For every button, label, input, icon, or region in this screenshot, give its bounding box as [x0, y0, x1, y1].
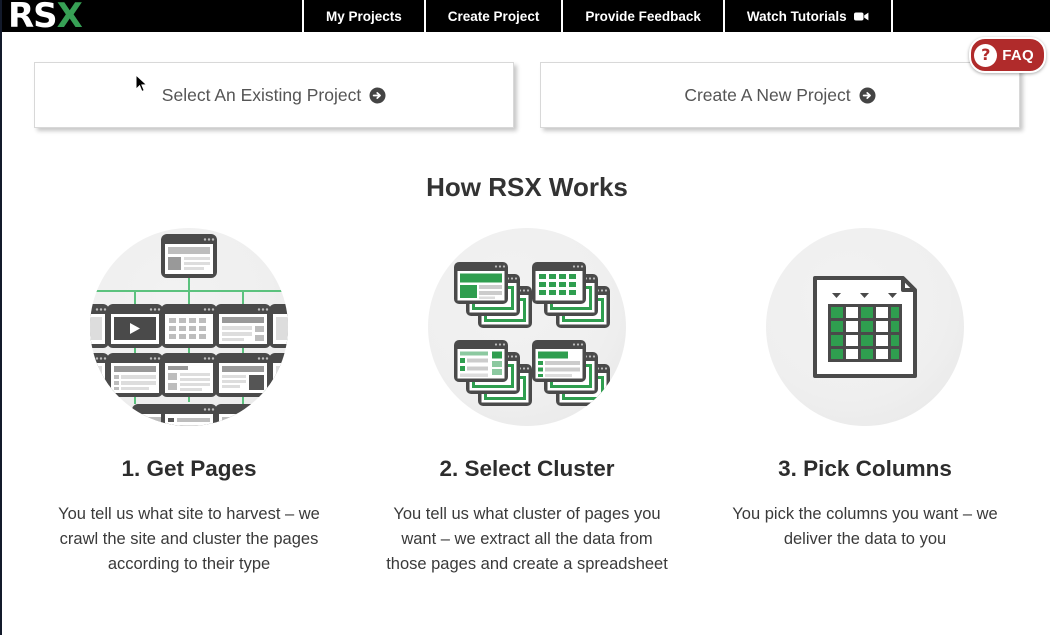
step-description: You tell us what cluster of pages you wa…: [382, 502, 672, 577]
create-new-project-button[interactable]: Create A New Project: [540, 62, 1020, 128]
step-title: 2. Select Cluster: [439, 456, 614, 482]
arrow-circle-right-icon: [369, 87, 386, 104]
page-root: RSX My Projects Create Project Provide F…: [0, 0, 1050, 635]
nav-item-create-project[interactable]: Create Project: [424, 0, 562, 32]
nav-item-provide-feedback[interactable]: Provide Feedback: [561, 0, 723, 32]
top-navbar: RSX My Projects Create Project Provide F…: [2, 0, 1050, 32]
select-existing-project-button[interactable]: Select An Existing Project: [34, 62, 514, 128]
nav-item-watch-tutorials[interactable]: Watch Tutorials: [723, 0, 893, 32]
step-pick-columns: 3. Pick Columns You pick the columns you…: [696, 228, 1034, 577]
select-existing-project-label: Select An Existing Project: [162, 85, 361, 106]
nav-item-my-projects[interactable]: My Projects: [302, 0, 424, 32]
arrow-circle-right-icon: [859, 87, 876, 104]
video-camera-icon: [854, 11, 869, 22]
app-logo[interactable]: RSX: [2, 0, 302, 32]
question-mark-icon: ?: [974, 44, 997, 67]
step-get-pages: 1. Get Pages You tell us what site to ha…: [20, 228, 358, 577]
logo-accent: X: [57, 0, 82, 36]
step-select-cluster: 2. Select Cluster You tell us what clust…: [358, 228, 696, 577]
nav-items: My Projects Create Project Provide Feedb…: [302, 0, 893, 32]
nav-item-label: My Projects: [326, 9, 402, 24]
nav-item-label: Create Project: [448, 9, 540, 24]
create-new-project-label: Create A New Project: [684, 85, 850, 106]
spreadsheet-illustration: [766, 228, 964, 426]
step-description: You pick the columns you want – we deliv…: [720, 502, 1010, 552]
logo-text: RSX: [8, 0, 82, 32]
steps-row: 1. Get Pages You tell us what site to ha…: [2, 228, 1050, 577]
site-tree-illustration: [90, 228, 288, 426]
faq-button[interactable]: ? FAQ: [969, 37, 1046, 73]
step-description: You tell us what site to harvest – we cr…: [44, 502, 334, 577]
step-title: 3. Pick Columns: [778, 456, 952, 482]
faq-label: FAQ: [1002, 47, 1034, 64]
nav-item-label: Provide Feedback: [585, 9, 701, 24]
page-clusters-illustration: [428, 228, 626, 426]
step-title: 1. Get Pages: [121, 456, 256, 482]
logo-prefix: RS: [8, 0, 57, 36]
action-button-row: Select An Existing Project Create A New …: [2, 62, 1050, 128]
nav-item-label: Watch Tutorials: [747, 9, 847, 24]
page-title: How RSX Works: [2, 172, 1050, 203]
